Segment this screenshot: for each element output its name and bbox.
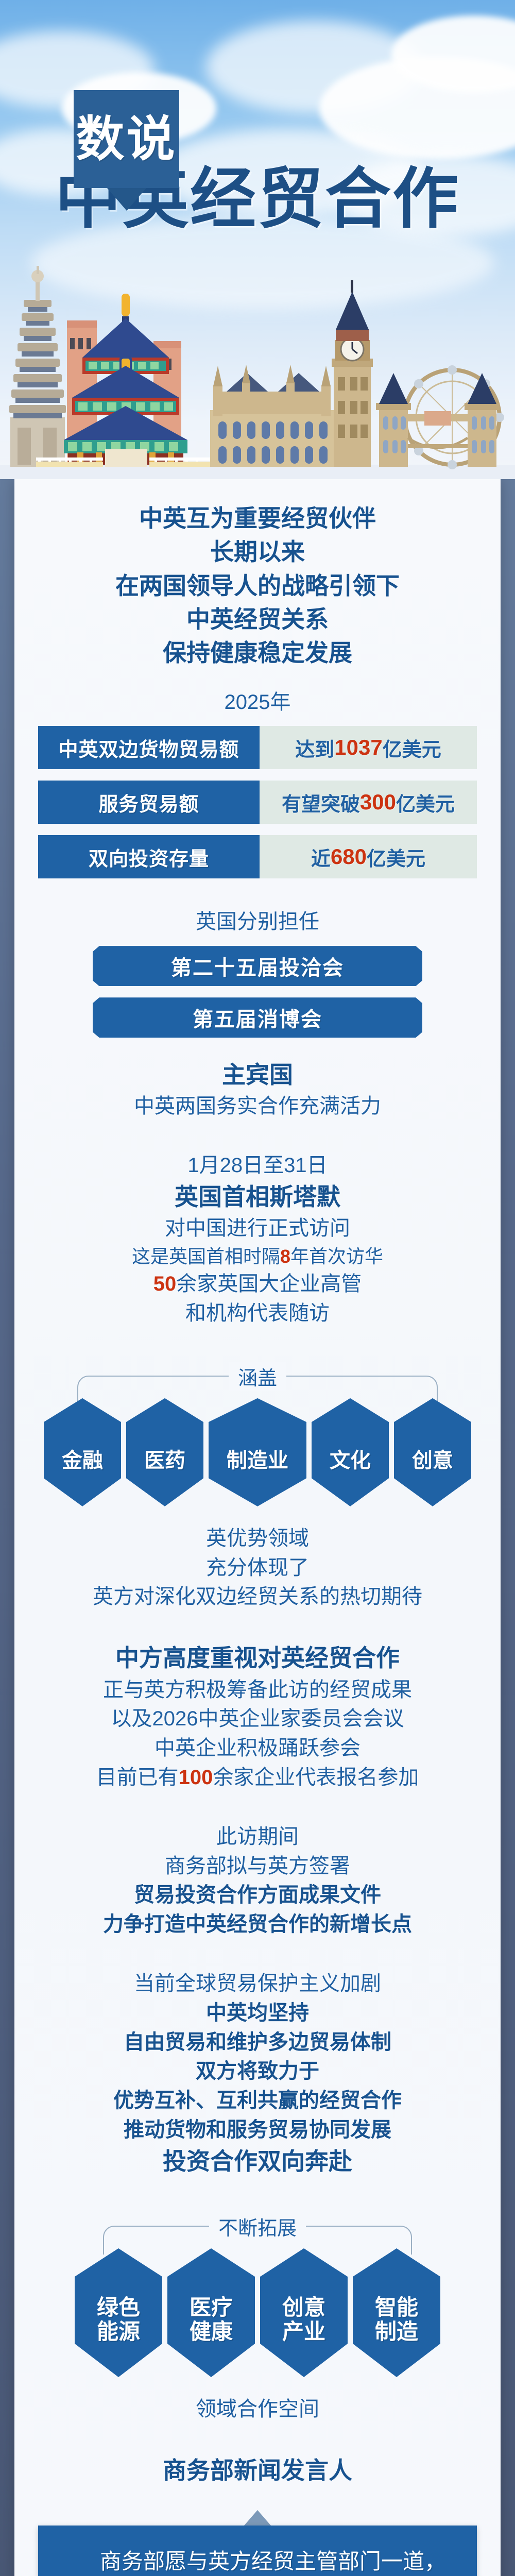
stat-label: 双向投资存量 [38,835,260,878]
stat-value: 有望突破300亿美元 [260,781,477,824]
series-badge: 数说 [74,90,179,188]
multilateral-line-1: 当前全球贸易保护主义加剧 [38,1969,477,1998]
expand-tag-line-bottom: 健康 [190,2319,233,2344]
infographic-page: 数说 中英经贸合作 [0,0,515,2576]
stat-value: 达到1037亿美元 [260,726,477,769]
intro-line-1: 中英互为重要经贸伙伴 [38,502,477,535]
cooperation-line-2: 以及2026中英企业家委员会会议 [38,1704,477,1734]
stat-number: 1037 [334,735,382,760]
visit-date: 1月28日至31日 [38,1151,477,1180]
landmarks-illustration [0,263,515,479]
expand-tag-line-top: 医疗 [190,2295,233,2319]
sectors-after-3: 英方对深化双边经贸关系的热切期待 [38,1582,477,1612]
stat-number: 300 [360,790,396,815]
cooperation-line-4: 目前已有100余家企业代表报名参加 [38,1763,477,1792]
intro-line-5: 保持健康稳定发展 [38,636,477,670]
expand-tag-line-bottom: 制造 [375,2319,418,2344]
expand-tag-line-top: 绿色 [97,2295,140,2319]
cooperation-line-1: 正与英方积极筹备此访的经贸成果 [38,1675,477,1705]
expand-tag-smart-manufacturing[interactable]: 智能 制造 [353,2248,440,2377]
events-note: 中英两国务实合作充满活力 [38,1092,477,1121]
visit-action: 对中国进行正式访问 [38,1214,477,1243]
visit-fact-number: 8 [280,1246,290,1267]
pagoda-icon [9,266,66,467]
visit-fact: 这是英国首相时隔8年首次访华 [38,1243,477,1269]
quote-source: 商务部新闻发言人 [38,2454,477,2487]
expand-bracket-group: 不断拓展 绿色 能源 医疗 健康 创意 [38,2214,477,2377]
visit-delegation-line2: 和机构代表随访 [38,1299,477,1328]
expand-tag-creative-industry[interactable]: 创意 产业 [260,2248,348,2377]
visit-fact-prefix: 这是英国首相时隔 [132,1246,280,1267]
expand-tag-line-bottom: 能源 [97,2319,140,2344]
stat-row: 中英双边货物贸易额 达到1037亿美元 [38,726,477,769]
big-ben-icon [332,280,373,467]
sectors-bracket-label: 涵盖 [229,1362,286,1391]
multilateral-line-5: 优势互补、互利共赢的经贸合作 [38,2086,477,2115]
cooperation-head: 中方高度重视对英经贸合作 [38,1641,477,1675]
multilateral-line-3: 自由贸易和维护多边贸易体制 [38,2028,477,2057]
stat-row: 双向投资存量 近680亿美元 [38,835,477,878]
intro-line-4: 中英经贸关系 [38,603,477,636]
stat-label: 服务贸易额 [38,781,260,824]
cooperation-line-3: 中英企业积极踊跃参会 [38,1734,477,1763]
cooperation-count-prefix: 目前已有 [96,1766,179,1789]
cooperation-count-number: 100 [179,1766,213,1789]
cooperation-count-suffix: 余家企业代表报名参加 [213,1766,419,1789]
sectors-after-2: 充分体现了 [38,1553,477,1583]
stat-value: 近680亿美元 [260,835,477,878]
visit-delegation: 50余家英国大企业高管 [38,1269,477,1299]
stats-year: 2025年 [38,688,477,717]
expand-tag-line-bottom: 产业 [282,2319,325,2344]
events-lead: 英国分别担任 [38,907,477,937]
quote-text: 商务部愿与英方经贸主管部门一道，共同落实好两国领导人达成的重要共识，加强经贸政策… [38,2526,477,2576]
stat-suffix: 亿美元 [367,843,425,871]
stat-suffix: 亿美元 [383,734,441,762]
visit-person: 英国首相斯塔默 [38,1180,477,1214]
multilateral-line-6: 推动货物和服务贸易协同发展 [38,2115,477,2145]
during-line-2: 商务部拟与英方签署 [38,1852,477,1881]
sectors-bracket-group: 涵盖 金融 医药 制造业 文化 创意 [38,1364,477,1506]
during-line-4: 力争打造中英经贸合作的新增长点 [38,1910,477,1939]
stat-prefix: 有望突破 [282,788,360,817]
stat-label: 中英双边货物贸易额 [38,726,260,769]
during-line-3: 贸易投资合作方面成果文件 [38,1880,477,1910]
stat-row: 服务贸易额 有望突破300亿美元 [38,781,477,824]
expand-tag-line-top: 创意 [282,2295,325,2319]
expand-tag-green-energy[interactable]: 绿色 能源 [75,2248,162,2377]
multilateral-line-4: 双方将致力于 [38,2057,477,2086]
stat-prefix: 近 [311,843,331,871]
sector-tag-row: 金融 医药 制造业 文化 创意 [38,1398,477,1506]
multilateral-line-7: 投资合作双向奔赴 [38,2145,477,2178]
hero-sky-header: 数说 中英经贸合作 [0,0,515,479]
quote-arrow-icon [244,2510,271,2526]
multilateral-line-2: 中英均坚持 [38,1998,477,2028]
events-role: 主宾国 [38,1058,477,1092]
sector-tag-culture[interactable]: 文化 [312,1398,389,1506]
stat-suffix: 亿美元 [396,788,455,817]
bracket-line: 涵盖 [77,1364,438,1394]
series-badge-label: 数说 [76,115,177,163]
visit-fact-suffix: 年首次访华 [290,1246,383,1267]
sector-tag-pharma[interactable]: 医药 [126,1398,203,1506]
bracket-line: 不断拓展 [103,2214,412,2244]
main-content-card: 中英互为重要经贸伙伴 长期以来 在两国领导人的战略引领下 中英经贸关系 保持健康… [14,479,501,2576]
sector-tag-manufacturing[interactable]: 制造业 [209,1398,306,1506]
ribbon-event-2: 第五届消博会 [93,997,422,1038]
expand-tag-row: 绿色 能源 医疗 健康 创意 产业 [38,2248,477,2377]
during-line-1: 此访期间 [38,1822,477,1852]
intro-line-2: 长期以来 [38,535,477,569]
sectors-after-1: 英优势领域 [38,1524,477,1553]
expand-tag-line-top: 智能 [375,2295,418,2319]
expand-tag-medical-health[interactable]: 医疗 健康 [167,2248,255,2377]
expand-bracket-label: 不断拓展 [209,2212,306,2241]
quote-callout: 商务部愿与英方经贸主管部门一道，共同落实好两国领导人达成的重要共识，加强经贸政策… [38,2510,477,2576]
visit-delegation-text: 余家英国大企业高管 [176,1273,362,1295]
visit-delegation-number: 50 [153,1273,177,1295]
stat-number: 680 [331,844,367,869]
stat-prefix: 达到 [295,734,334,762]
expand-after: 领域合作空间 [38,2395,477,2424]
sector-tag-creative[interactable]: 创意 [394,1398,471,1506]
westminster-palace-icon [210,365,334,467]
ribbon-event-1: 第二十五届投洽会 [93,946,422,986]
tower-bridge-icon [376,373,500,467]
intro-line-3: 在两国领导人的战略引领下 [38,569,477,603]
sector-tag-finance[interactable]: 金融 [44,1398,121,1506]
